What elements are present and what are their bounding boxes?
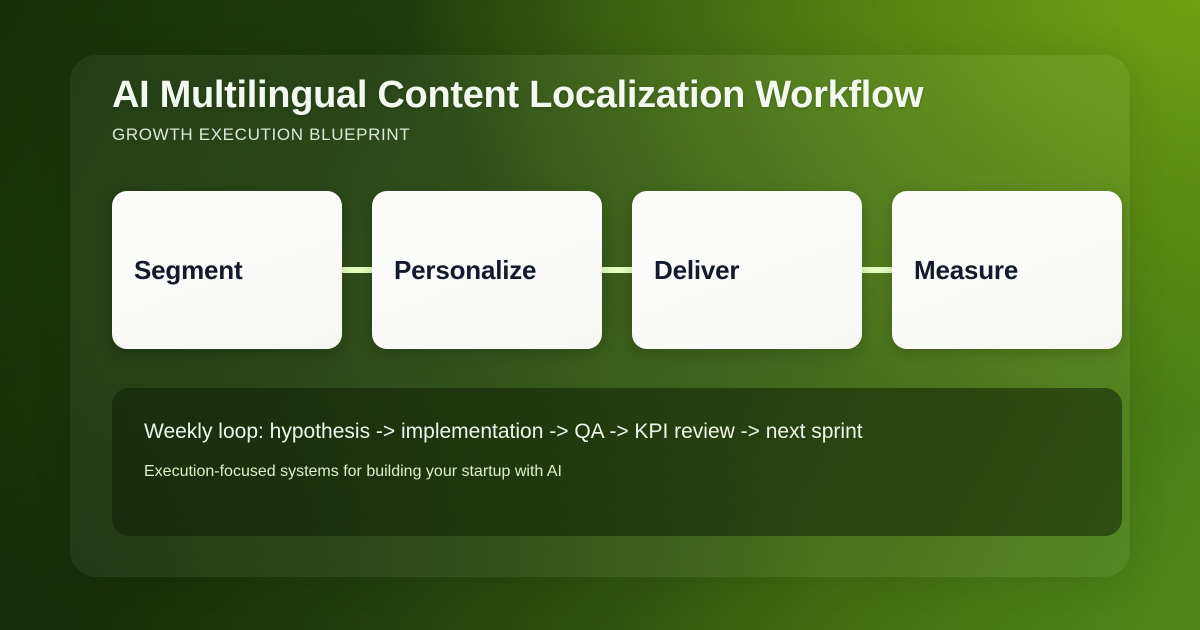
step-connector-1 [342,267,372,273]
slide-canvas: AI Multilingual Content Localization Wor… [0,0,1200,630]
step-label: Measure [914,256,1018,285]
step-card-segment[interactable]: Segment [112,191,342,349]
step-card-measure[interactable]: Measure [892,191,1122,349]
step-connector-2 [602,267,632,273]
workflow-steps: Segment Personalize Deliver Measure [112,191,1122,349]
footer-primary-text: Weekly loop: hypothesis -> implementatio… [144,418,1090,445]
page-title: AI Multilingual Content Localization Wor… [112,73,1090,118]
step-label: Deliver [654,256,739,285]
step-card-personalize[interactable]: Personalize [372,191,602,349]
step-label: Segment [134,256,242,285]
step-connector-3 [862,267,892,273]
footer-secondary-text: Execution-focused systems for building y… [144,462,1090,483]
header: AI Multilingual Content Localization Wor… [112,73,1090,145]
page-subtitle: GROWTH EXECUTION BLUEPRINT [112,125,1090,145]
footer-note-box: Weekly loop: hypothesis -> implementatio… [112,388,1122,536]
step-card-deliver[interactable]: Deliver [632,191,862,349]
content-panel: AI Multilingual Content Localization Wor… [70,55,1130,577]
step-label: Personalize [394,256,536,285]
